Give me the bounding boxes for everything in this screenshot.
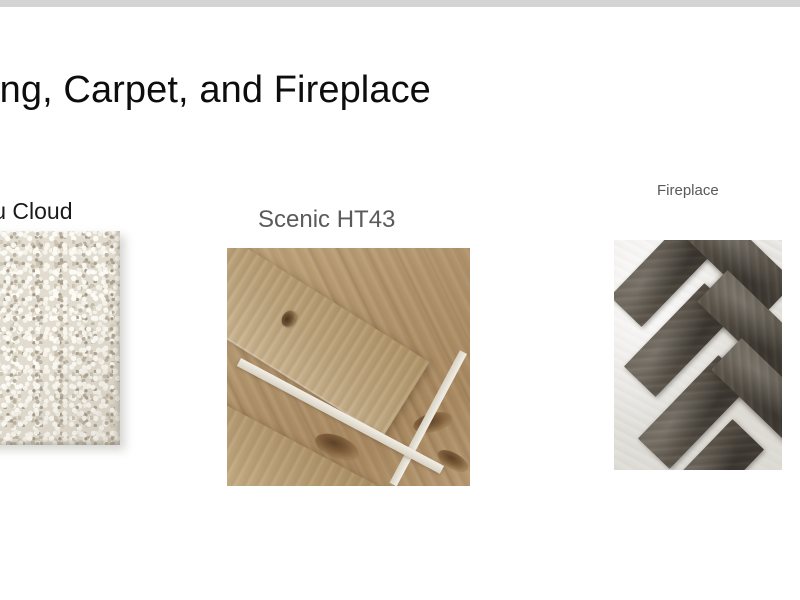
fireplace-tile-image <box>614 240 782 470</box>
carpet-bottom-edge <box>0 439 120 445</box>
slide-canvas: Flooring, Carpet, and Fireplace Plateau … <box>0 0 800 600</box>
carpet-shading <box>0 231 120 445</box>
slide-title: Flooring, Carpet, and Fireplace <box>0 67 431 113</box>
slide-top-border <box>0 0 800 7</box>
carpet-caption: Plateau Cloud <box>0 198 73 225</box>
flooring-caption: Scenic HT43 <box>258 205 395 234</box>
wood-flooring-image <box>227 248 470 486</box>
carpet-swatch-image <box>0 231 120 445</box>
fireplace-caption: Fireplace <box>657 181 719 200</box>
carpet-right-edge <box>113 231 120 445</box>
plank-knot <box>279 309 299 330</box>
